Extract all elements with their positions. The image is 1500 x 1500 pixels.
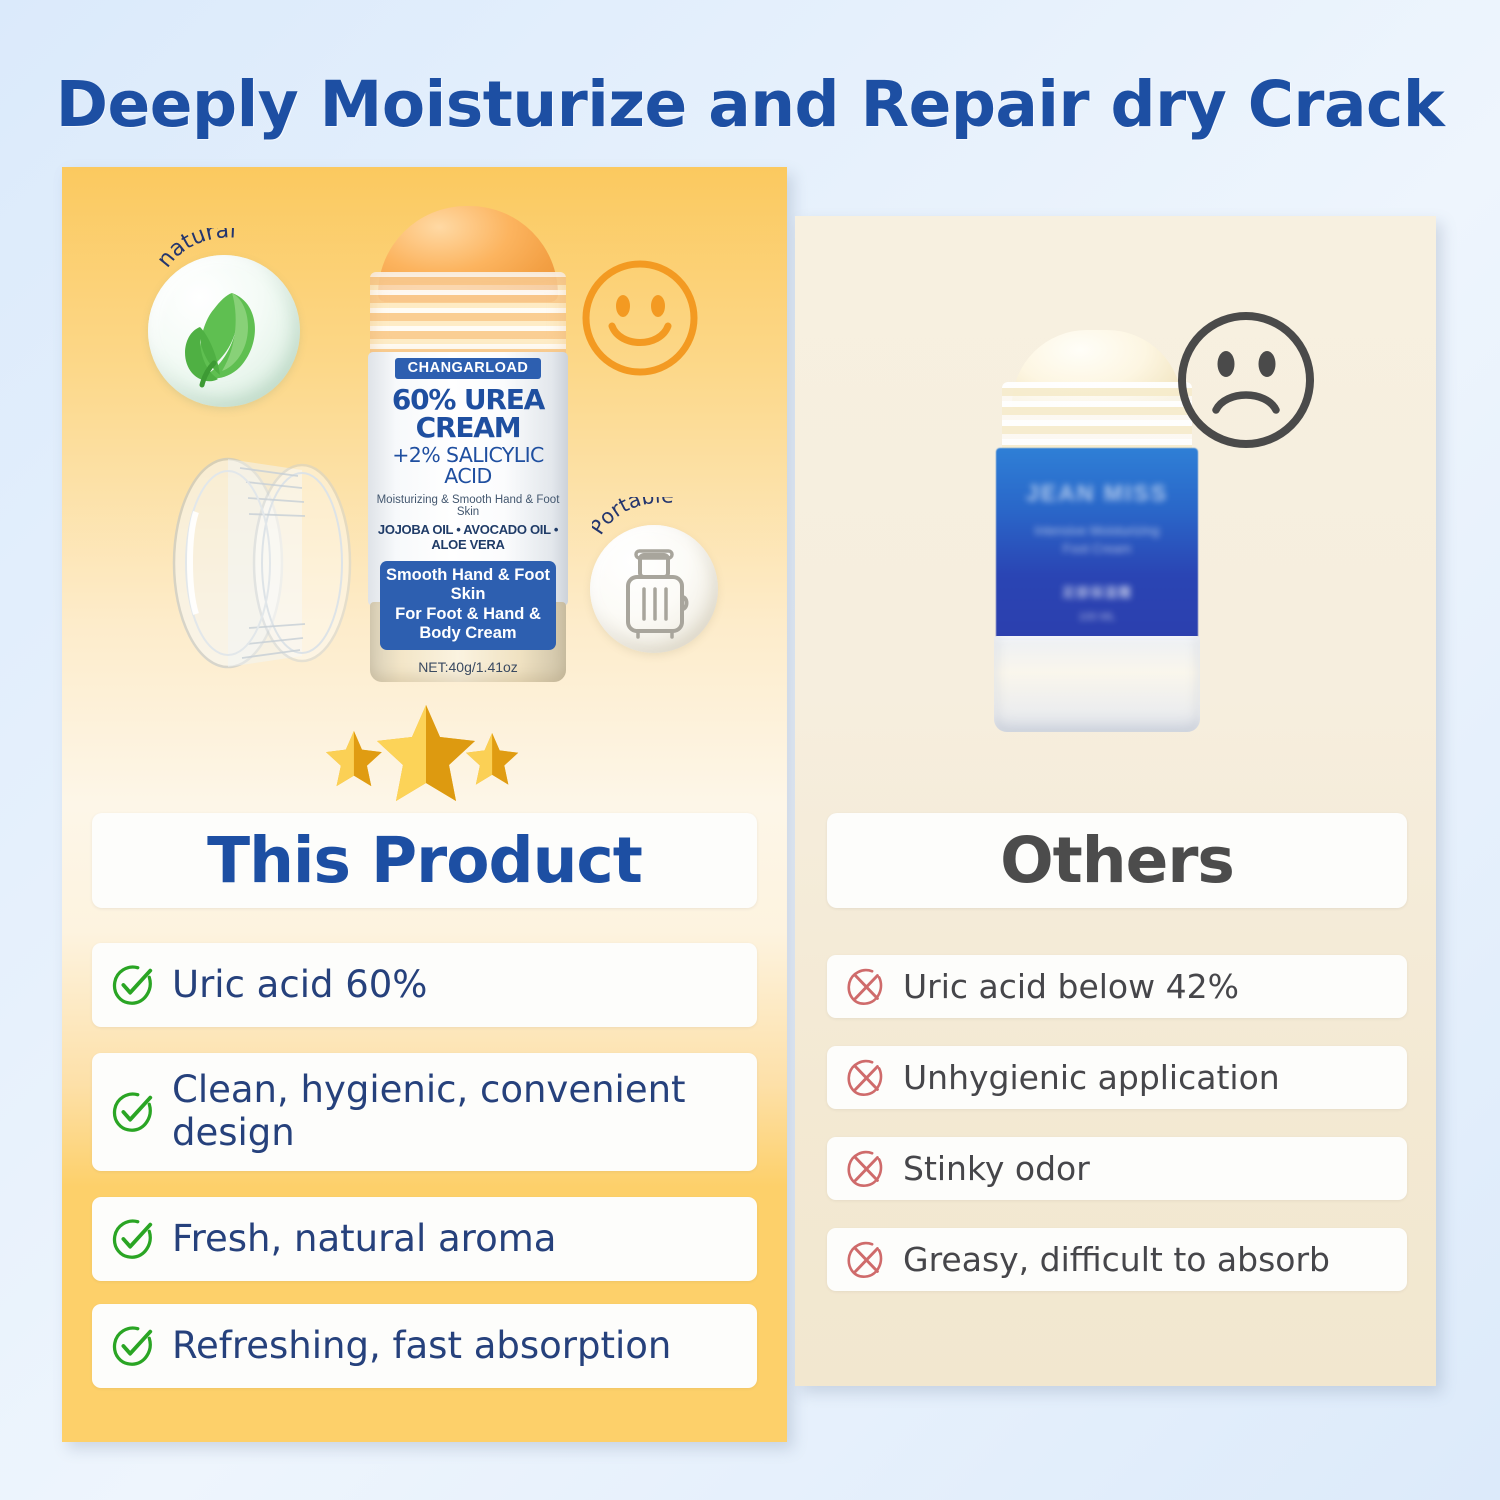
product-brand: CHANGARLOAD (395, 358, 542, 379)
competitor-label: JEAN MISS Intensive Moisturizing Foot Cr… (996, 480, 1198, 623)
cross-circle-icon (845, 1148, 887, 1190)
portable-badge-label: Portable (592, 497, 732, 553)
others-header-label: Others (1000, 824, 1234, 897)
competitor-line2: Intensive Moisturizing (996, 523, 1198, 538)
this-product-header: This Product (92, 813, 757, 908)
natural-badge-label: natural (156, 228, 296, 288)
check-circle-icon (110, 1323, 156, 1369)
list-item-label: Unhygienic application (903, 1059, 1280, 1097)
list-item-label: Uric acid below 42% (903, 968, 1239, 1006)
competitor-line4: 足部保湿霜 (996, 582, 1198, 601)
check-circle-icon (110, 1216, 156, 1262)
competitor-line5: 100 ML (996, 611, 1198, 623)
product-title-line1: 60% UREA CREAM (374, 386, 562, 442)
three-gold-stars (318, 703, 534, 803)
others-panel: JEAN MISS Intensive Moisturizing Foot Cr… (795, 216, 1436, 1386)
svg-text:natural: natural (156, 228, 237, 272)
list-item-label: Greasy, difficult to absorb (903, 1241, 1330, 1279)
list-item: Greasy, difficult to absorb (827, 1228, 1407, 1291)
page-title: Deeply Moisturize and Repair dry Crack (0, 68, 1500, 141)
check-circle-icon (110, 962, 156, 1008)
product-stick: CHANGARLOAD 60% UREA CREAM +2% SALICYLIC… (362, 206, 574, 686)
product-ingredients: JOJOBA OIL • AVOCADO OIL • ALOE VERA (374, 522, 562, 552)
list-item: Uric acid 60% (92, 943, 757, 1027)
others-header: Others (827, 813, 1407, 908)
competitor-line3: Foot Cream (996, 541, 1198, 556)
list-item: Clean, hygienic, convenient design (92, 1053, 757, 1171)
competitor-base (994, 636, 1200, 732)
product-callout-line2: For Foot & Hand & Body Cream (382, 605, 554, 644)
product-thread-rings (370, 272, 566, 358)
list-item: Unhygienic application (827, 1046, 1407, 1109)
list-item: Stinky odor (827, 1137, 1407, 1200)
sad-face-icon (1172, 306, 1320, 454)
list-item: Refreshing, fast absorption (92, 1304, 757, 1388)
competitor-thread-rings (1002, 382, 1192, 454)
svg-text:Portable: Portable (592, 497, 674, 539)
cross-circle-icon (845, 966, 887, 1008)
cross-circle-icon (845, 1057, 887, 1099)
competitor-brand: JEAN MISS (996, 480, 1198, 507)
list-item: Fresh, natural aroma (92, 1197, 757, 1281)
clear-jar-cap (152, 452, 367, 674)
product-subtitle: Moisturizing & Smooth Hand & Foot Skin (374, 494, 562, 518)
list-item: Uric acid below 42% (827, 955, 1407, 1018)
list-item-label: Uric acid 60% (172, 964, 427, 1007)
list-item-label: Stinky odor (903, 1150, 1090, 1188)
product-net-weight: NET:40g/1.41oz (374, 659, 562, 675)
product-title-line2: +2% SALICYLIC ACID (374, 445, 562, 486)
check-circle-icon (110, 1089, 156, 1135)
smiley-face-icon (578, 256, 702, 380)
list-item-label: Refreshing, fast absorption (172, 1325, 671, 1368)
list-item-label: Clean, hygienic, convenient design (172, 1069, 747, 1154)
list-item-label: Fresh, natural aroma (172, 1218, 556, 1261)
cross-circle-icon (845, 1239, 887, 1281)
product-callout: Smooth Hand & Foot Skin For Foot & Hand … (380, 561, 556, 650)
product-label: CHANGARLOAD 60% UREA CREAM +2% SALICYLIC… (374, 358, 562, 675)
this-product-header-label: This Product (207, 824, 642, 897)
product-callout-line1: Smooth Hand & Foot Skin (382, 566, 554, 605)
